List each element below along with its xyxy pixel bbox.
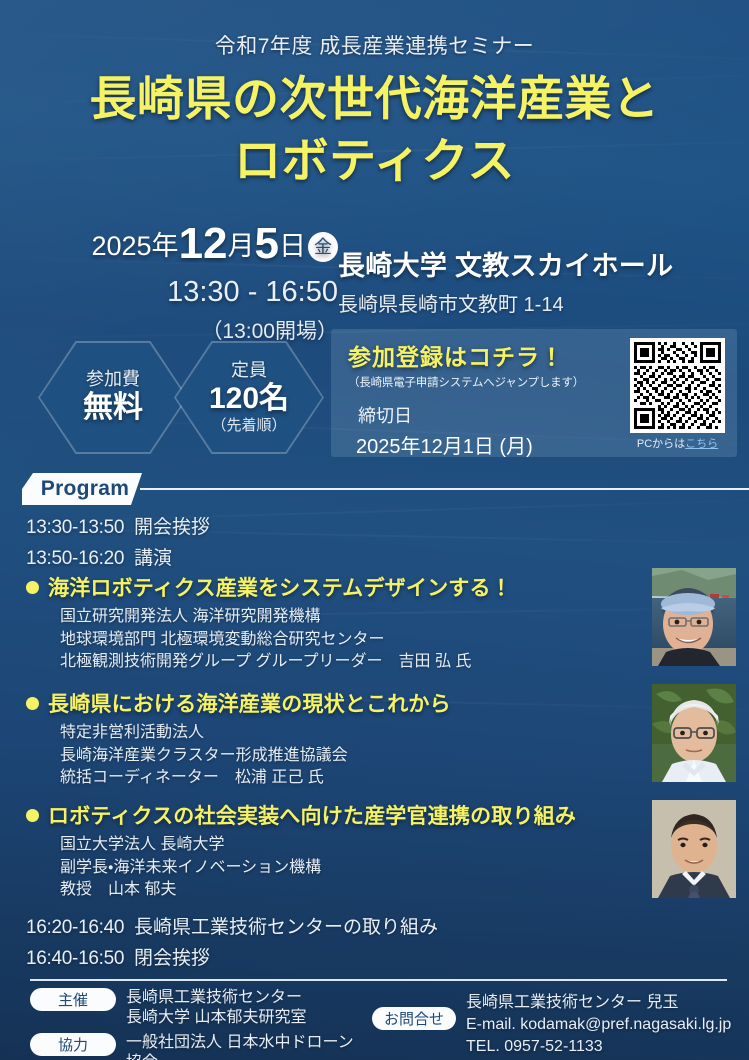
event-time: 13:30 - 16:50 — [26, 276, 338, 309]
organizer-line-2: 長崎大学 山本郁夫研究室 — [126, 1008, 306, 1028]
talk-2-affiliation: 特定非営利活動法人 長崎海洋産業クラスター形成推進協議会 統括コーディネーター … — [26, 722, 626, 790]
footer-organizers: 主催 長崎県工業技術センター 長崎大学 山本郁夫研究室 協力 一般社団法人 日本… — [30, 988, 360, 1060]
talk-item-1: 海洋ロボティクス産業をシステムデザインする！ 国立研究開発法人 海洋研究開発機構… — [26, 572, 626, 674]
talk-1-affiliation: 国立研究開発法人 海洋研究開発機構 地球環境部門 北極環境変動総合研究センター … — [26, 606, 626, 674]
event-day-number: 5 — [255, 219, 279, 268]
talk-2-title-text: 長崎県における海洋産業の現状とこれから — [48, 693, 451, 716]
organizer-badge: 主催 — [30, 988, 116, 1011]
registration-title: 参加登録はコチラ！ — [348, 338, 613, 372]
talk-1-title-text: 海洋ロボティクス産業をシステムデザインする！ — [48, 577, 512, 600]
registration-note: （長崎県電子申請システムへジャンプします） — [348, 374, 613, 390]
event-year: 2025年 — [91, 231, 178, 261]
seminar-kicker: 令和7年度 成長産業連携セミナー — [0, 30, 749, 60]
talk-3-title: ロボティクスの社会実装へ向けた産学官連携の取り組み — [26, 800, 626, 830]
contact-text: 長崎県工業技術センター 兒玉 E-mail. kodamak@pref.naga… — [466, 992, 731, 1058]
event-date: 2025年12月5日金 — [26, 222, 338, 266]
talk-1-title: 海洋ロボティクス産業をシステムデザインする！ — [26, 572, 626, 602]
cooperation-line-1: 一般社団法人 日本水中ドローン協会 — [126, 1033, 360, 1060]
cooperation-badge: 協力 — [30, 1033, 116, 1056]
footer-contact: お問合せ 長崎県工業技術センター 兒玉 E-mail. kodamak@pref… — [372, 992, 732, 1058]
fee-badge: 参加費 無料 — [38, 341, 188, 454]
bullet-icon — [26, 581, 39, 594]
event-month-number: 12 — [179, 219, 228, 268]
talk-item-2: 長崎県における海洋産業の現状とこれから 特定非営利活動法人 長崎海洋産業クラスタ… — [26, 688, 626, 790]
program-divider — [140, 488, 749, 490]
talk-2-line-1: 特定非営利活動法人 — [60, 722, 626, 745]
organizer-text: 長崎県工業技術センター 長崎大学 山本郁夫研究室 — [126, 988, 306, 1029]
program-row-kougyou-time: 16:20-16:40 — [26, 917, 134, 939]
program-header: Program — [22, 473, 749, 507]
talk-3-line-1: 国立大学法人 長崎大学 — [60, 834, 626, 857]
talk-2-title: 長崎県における海洋産業の現状とこれから — [26, 688, 626, 718]
capacity-badge-label: 定員 — [231, 360, 267, 381]
fee-badge-value: 無料 — [83, 391, 143, 426]
poster-root: 令和7年度 成長産業連携セミナー 長崎県の次世代海洋産業と ロボティクス 202… — [0, 0, 749, 1060]
talk-1-line-2: 地球環境部門 北極環境変動総合研究センター — [60, 629, 626, 652]
talk-item-3: ロボティクスの社会実装へ向けた産学官連携の取り組み 国立大学法人 長崎大学 副学… — [26, 800, 626, 902]
program-row-closing: 16:40-16:50閉会挨拶 — [26, 943, 210, 970]
capacity-badge-value: 120名 — [209, 382, 289, 417]
registration-text: 参加登録はコチラ！ （長崎県電子申請システムへジャンプします） 締切日 2025… — [348, 338, 613, 459]
organizer-line-1: 長崎県工業技術センター — [126, 988, 306, 1008]
qr-code-icon[interactable] — [630, 338, 725, 433]
date-block: 2025年12月5日金 13:30 - 16:50 （13:00開場） — [26, 222, 338, 345]
qr-caption: PCからはこちら — [630, 435, 725, 451]
venue-block: 長崎大学 文教スカイホール 長崎県長崎市文教町 1-14 — [338, 244, 738, 317]
program-row-lectures: 13:50-16:20講演 — [26, 543, 172, 570]
cooperation-text: 一般社団法人 日本水中ドローン協会 — [126, 1033, 360, 1060]
event-day-unit: 日 — [279, 231, 306, 261]
program-row-lectures-label: 講演 — [134, 548, 172, 569]
talk-3-title-text: ロボティクスの社会実装へ向けた産学官連携の取り組み — [48, 805, 576, 828]
footer: 主催 長崎県工業技術センター 長崎大学 山本郁夫研究室 協力 一般社団法人 日本… — [0, 986, 749, 1060]
day-of-week-badge: 金 — [308, 232, 338, 262]
program-row-kougyou-label: 長崎県工業技術センターの取り組み — [134, 917, 438, 938]
program-row-lectures-time: 13:50-16:20 — [26, 548, 134, 570]
capacity-badge: 定員 120名 （先着順） — [174, 341, 324, 454]
title-line-1: 長崎県の次世代海洋産業と — [0, 68, 749, 130]
deadline-date: 2025年12月1日 (月) — [348, 430, 613, 459]
talk-3-line-2: 副学長・海洋未来イノベーション機構 — [60, 857, 626, 880]
info-badges: 参加費 無料 定員 120名 （先着順） — [38, 341, 338, 457]
bullet-icon — [26, 697, 39, 710]
fee-badge-label: 参加費 — [86, 369, 140, 390]
speaker-photo-2 — [652, 684, 736, 782]
title-line-2: ロボティクス — [0, 130, 749, 192]
venue-address: 長崎県長崎市文教町 1-14 — [338, 288, 738, 317]
qr-block[interactable]: PCからはこちら — [630, 338, 725, 451]
program-row-opening-time: 13:30-13:50 — [26, 517, 134, 539]
program-row-opening-label: 開会挨拶 — [134, 517, 210, 538]
contact-badge: お問合せ — [372, 1007, 456, 1030]
registration-panel: 参加登録はコチラ！ （長崎県電子申請システムへジャンプします） 締切日 2025… — [331, 329, 737, 457]
talk-1-line-3: 北極観測技術開発グループ グループリーダー 吉田 弘 氏 — [60, 651, 626, 674]
program-row-closing-time: 16:40-16:50 — [26, 948, 134, 970]
footer-divider — [30, 979, 727, 981]
capacity-badge-sub: （先着順） — [211, 417, 286, 434]
program-row-closing-label: 閉会挨拶 — [134, 948, 210, 969]
talk-2-line-3: 統括コーディネーター 松浦 正己 氏 — [60, 767, 626, 790]
talk-1-line-1: 国立研究開発法人 海洋研究開発機構 — [60, 606, 626, 629]
venue-name: 長崎大学 文教スカイホール — [338, 244, 738, 283]
speaker-photo-3 — [652, 800, 736, 898]
cooperation-row: 協力 一般社団法人 日本水中ドローン協会 — [30, 1033, 360, 1060]
talk-3-affiliation: 国立大学法人 長崎大学 副学長・海洋未来イノベーション機構 教授 山本 郁夫 — [26, 834, 626, 902]
contact-line-3: TEL. 0957-52-1133 — [466, 1036, 731, 1058]
contact-line-2: E-mail. kodamak@pref.nagasaki.lg.jp — [466, 1014, 731, 1036]
speaker-photo-1 — [652, 568, 736, 666]
program-row-opening: 13:30-13:50開会挨拶 — [26, 512, 210, 539]
program-tag: Program — [22, 473, 142, 505]
pc-registration-link[interactable]: こちら — [685, 438, 718, 450]
qr-caption-prefix: PCからは — [637, 438, 685, 450]
bullet-icon — [26, 809, 39, 822]
deadline-label: 締切日 — [348, 402, 613, 428]
talk-3-line-3: 教授 山本 郁夫 — [60, 879, 626, 902]
page-title: 長崎県の次世代海洋産業と ロボティクス — [0, 68, 749, 192]
program-row-kougyou: 16:20-16:40長崎県工業技術センターの取り組み — [26, 912, 438, 939]
contact-line-1: 長崎県工業技術センター 兒玉 — [466, 992, 731, 1014]
program-tag-label: Program — [41, 477, 129, 501]
event-month-unit: 月 — [228, 231, 255, 261]
organizer-row: 主催 長崎県工業技術センター 長崎大学 山本郁夫研究室 — [30, 988, 360, 1029]
talk-2-line-2: 長崎海洋産業クラスター形成推進協議会 — [60, 745, 626, 768]
